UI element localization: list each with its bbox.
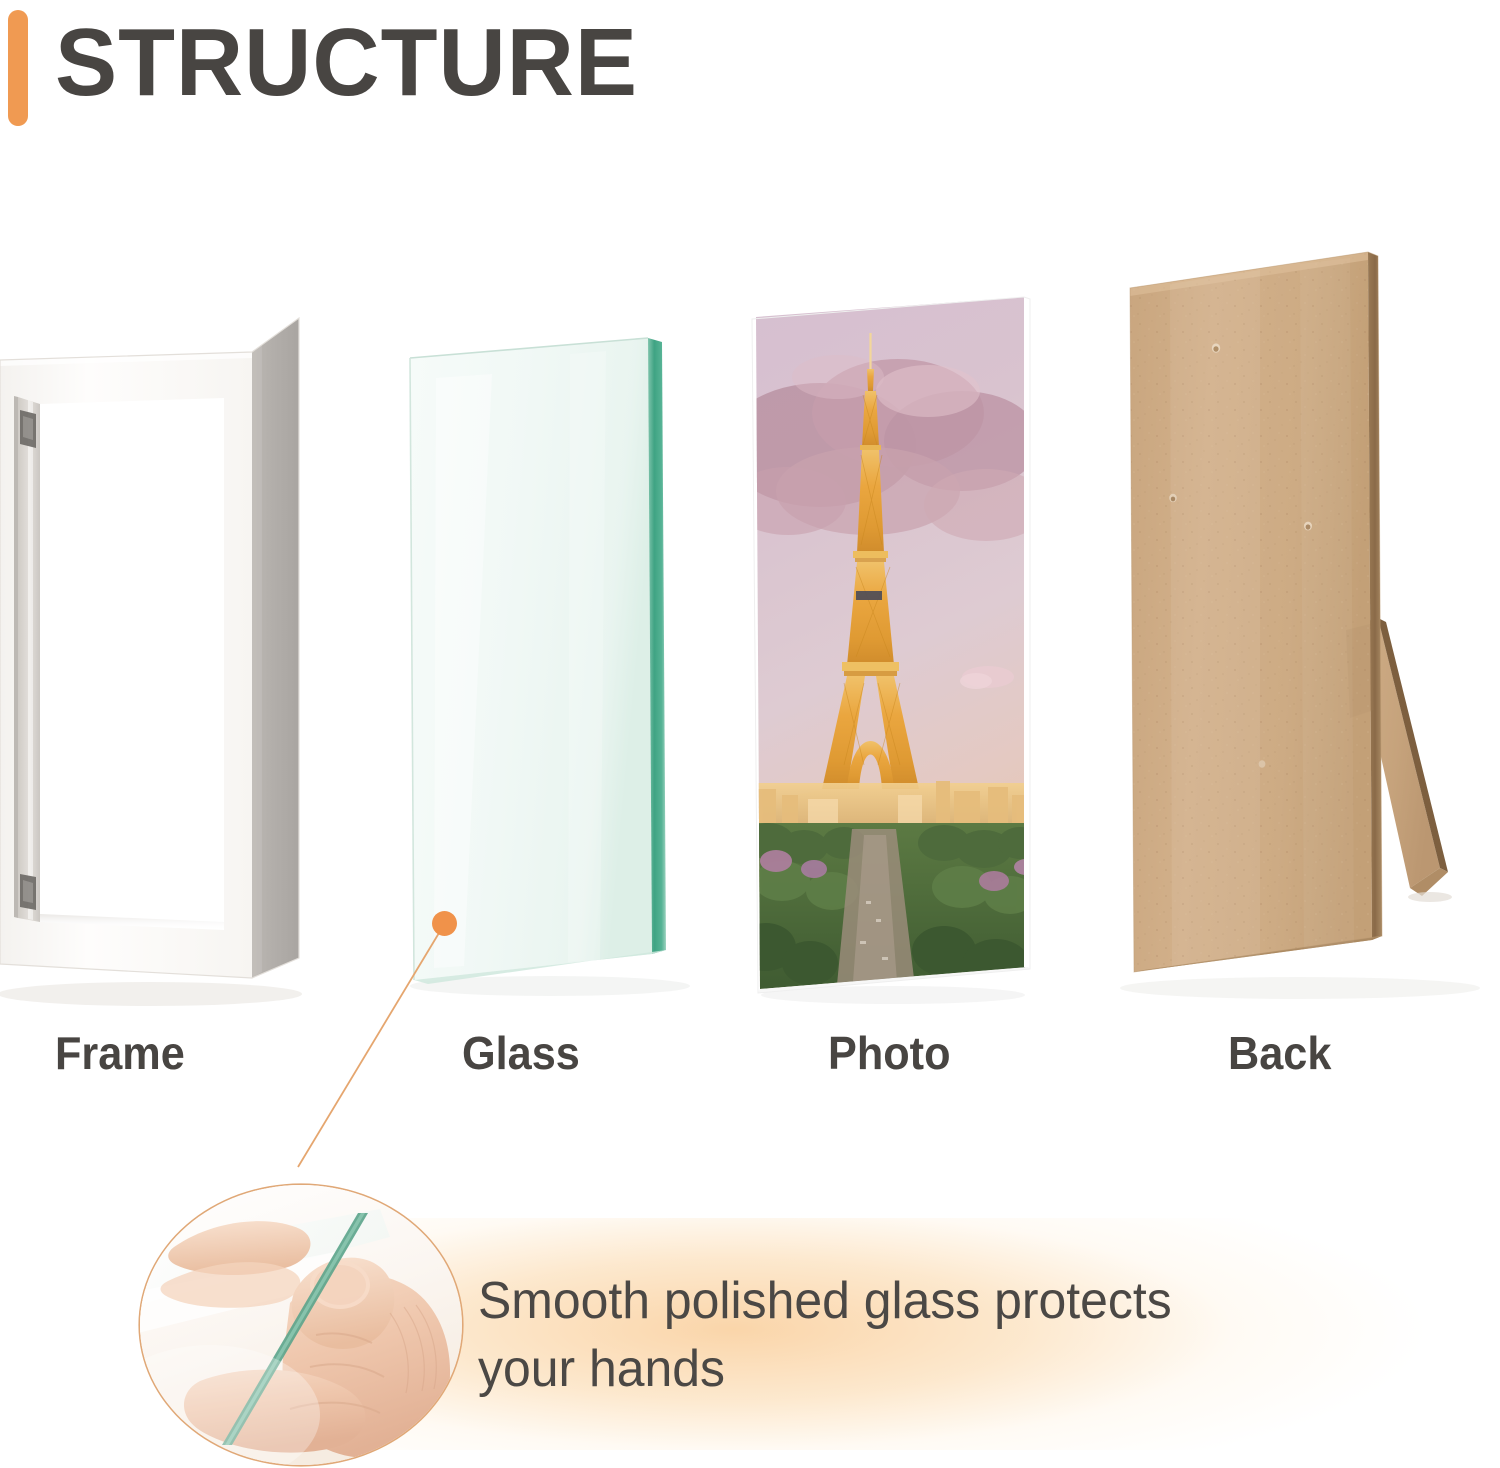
glass-edge-callout-dot — [432, 911, 457, 936]
caption-line-2: your hands — [478, 1336, 1342, 1404]
caption-line-1: Smooth polished glass protects — [478, 1268, 1342, 1336]
caption-text: Smooth polished glass protects your hand… — [478, 1268, 1342, 1403]
photo-print-icon — [748, 295, 1038, 1005]
component-label-back: Back — [1228, 1026, 1331, 1080]
component-label-photo: Photo — [828, 1026, 950, 1080]
component-label-glass: Glass — [462, 1026, 580, 1080]
product-back — [1110, 240, 1500, 1000]
product-frame — [0, 318, 330, 1008]
page-title: STRUCTURE — [55, 6, 638, 119]
glass-pane-icon — [400, 330, 690, 1000]
mdf-backboard-icon — [1110, 240, 1500, 1000]
hand-holding-glass-icon — [140, 1185, 462, 1465]
product-photo — [748, 295, 1038, 1005]
product-glass — [400, 330, 690, 1000]
component-label-frame: Frame — [55, 1026, 185, 1080]
hand-holding-glass-inset — [140, 1185, 462, 1465]
picture-frame-icon — [0, 318, 330, 1008]
infographic-canvas: STRUCTURE — [0, 0, 1500, 1468]
title-accent-bar — [8, 10, 28, 126]
